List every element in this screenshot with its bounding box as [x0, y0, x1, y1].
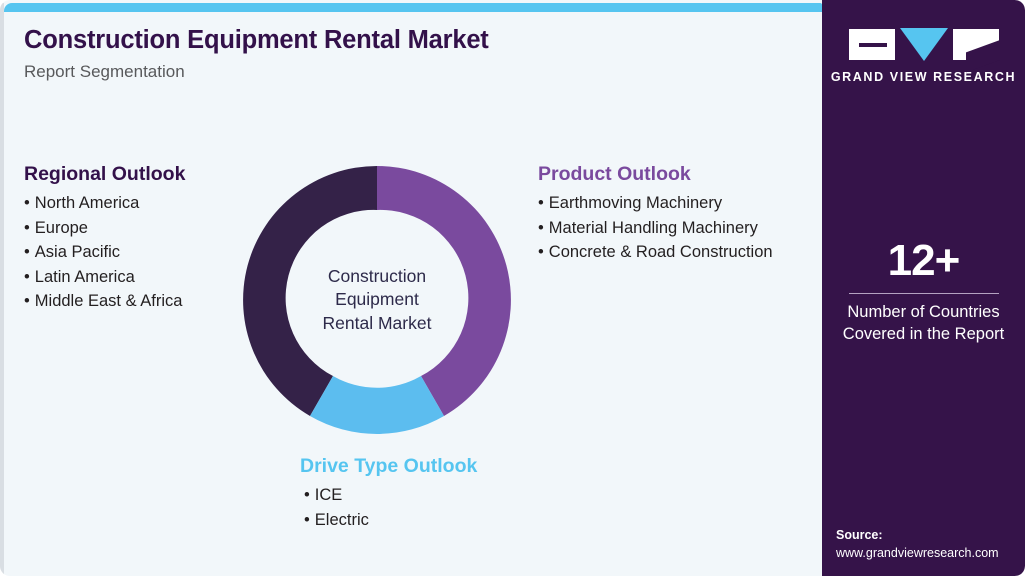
list-item: Latin America	[24, 265, 185, 289]
donut-center-line-1: Construction	[328, 265, 426, 288]
stat-label: Number of Countries Covered in the Repor…	[834, 302, 1013, 346]
list-item: Material Handling Machinery	[538, 216, 773, 240]
source-block: Source: www.grandviewresearch.com	[836, 526, 1015, 562]
logo-marks	[849, 28, 999, 61]
list-item: Europe	[24, 216, 185, 240]
regional-outlook-group: Regional Outlook North America Europe As…	[24, 162, 185, 313]
stat-divider	[849, 293, 999, 294]
donut-chart: Construction Equipment Rental Market	[237, 160, 517, 440]
donut-center-line-2: Equipment	[335, 288, 419, 311]
stat-label-line-1: Number of Countries	[834, 302, 1013, 324]
source-label: Source:	[836, 526, 1015, 544]
drivetype-outlook-title: Drive Type Outlook	[300, 454, 477, 478]
countries-stat: 12+ Number of Countries Covered in the R…	[822, 238, 1025, 346]
top-accent-bar	[4, 3, 822, 12]
logo-r-icon	[953, 29, 999, 60]
brand-logo: GRAND VIEW RESEARCH	[822, 28, 1025, 84]
product-outlook-list: Earthmoving Machinery Material Handling …	[538, 191, 773, 264]
drivetype-outlook-list: ICE Electric	[300, 483, 477, 532]
donut-center-label: Construction Equipment Rental Market	[237, 160, 517, 440]
donut-center-line-3: Rental Market	[323, 312, 432, 335]
page-subtitle: Report Segmentation	[24, 62, 489, 82]
header: Construction Equipment Rental Market Rep…	[24, 26, 489, 82]
list-item: Middle East & Africa	[24, 289, 185, 313]
list-item: Earthmoving Machinery	[538, 191, 773, 215]
page-title: Construction Equipment Rental Market	[24, 26, 489, 54]
list-item: Concrete & Road Construction	[538, 240, 773, 264]
list-item: ICE	[304, 483, 477, 507]
product-outlook-title: Product Outlook	[538, 162, 773, 186]
regional-outlook-title: Regional Outlook	[24, 162, 185, 186]
source-url[interactable]: www.grandviewresearch.com	[836, 544, 1015, 562]
regional-outlook-list: North America Europe Asia Pacific Latin …	[24, 191, 185, 313]
list-item: Electric	[304, 508, 477, 532]
stat-value: 12+	[834, 238, 1013, 284]
stat-label-line-2: Covered in the Report	[834, 324, 1013, 346]
infographic-canvas: Construction Equipment Rental Market Rep…	[0, 0, 1025, 576]
list-item: Asia Pacific	[24, 240, 185, 264]
left-edge-strip	[0, 3, 4, 576]
logo-v-triangle-icon	[900, 28, 948, 61]
drivetype-outlook-group: Drive Type Outlook ICE Electric	[300, 454, 477, 532]
logo-wordmark: GRAND VIEW RESEARCH	[831, 70, 1016, 84]
product-outlook-group: Product Outlook Earthmoving Machinery Ma…	[538, 162, 773, 265]
side-panel: GRAND VIEW RESEARCH 12+ Number of Countr…	[822, 0, 1025, 576]
list-item: North America	[24, 191, 185, 215]
logo-g-icon	[849, 29, 895, 60]
